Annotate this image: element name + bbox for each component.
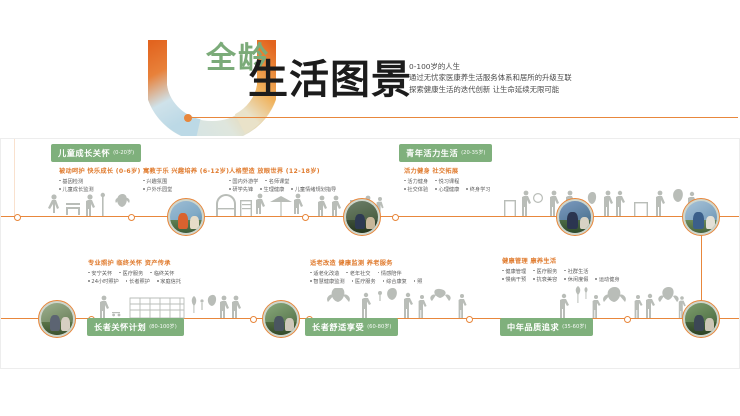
section-divider-top [0, 138, 740, 139]
infographic-canvas: 全龄 生活图景 0-100岁的人生 通过无忧家医康养生活服务体系和居所的升级互联… [0, 0, 740, 416]
timeline-node [392, 214, 399, 221]
group-item: 医疗服务 [352, 278, 376, 285]
group-item: 健康管理 [502, 268, 526, 275]
group-heading: 寓教于乐 兴趣培养 (6-12岁) [143, 166, 229, 175]
photo-youth-sport[interactable] [556, 198, 594, 236]
group-item: 基因检测 [59, 178, 83, 185]
group-item: 兴趣氛围 [143, 178, 167, 185]
group-item: 老年社交 [346, 270, 370, 277]
group-item: 儿童成长监测 [59, 186, 94, 193]
stage-badge-label: 长者舒适享受 [312, 321, 364, 333]
timeline-node [250, 316, 257, 323]
group-heading: 人格塑造 放眼世界 (12-18岁) [229, 166, 336, 175]
stage-badge-age: (60-80岁) [367, 323, 391, 330]
timeline-connector-left [14, 138, 15, 216]
group-item: 情感陪伴 [378, 270, 402, 277]
stage-badge-age: (80-100岁) [149, 323, 177, 330]
stage-badge-youth[interactable]: 青年活力生活 (20-35岁) [399, 144, 492, 162]
subtitle-line-1: 0-100岁的人生 [409, 61, 639, 72]
group-item: 生理健康 [260, 186, 284, 193]
group-item: 综合康复 [383, 278, 407, 285]
subtitle-line-2: 通过无忧家医康养生活服务体系和居所的升级互联 [409, 72, 639, 83]
photo-elder-garden[interactable] [262, 300, 300, 338]
stage-badge-elder-care[interactable]: 长者关怀计划 (80-100岁) [87, 318, 184, 336]
stage-group-youth-0: 活力健身 社交拓展 活力健身 悦习课程 社交体验 心理健康 终身学习 [404, 166, 490, 193]
stage-badge-elder-comfort[interactable]: 长者舒适享受 (60-80岁) [305, 318, 398, 336]
photo-youth-couple[interactable] [682, 198, 720, 236]
stage-badge-label: 儿童成长关怀 [58, 147, 110, 159]
group-item: 照 [414, 278, 423, 285]
group-item: 户外乐园堂 [143, 186, 172, 193]
group-heading: 适老改造 健康监测 养老服务 [310, 258, 422, 267]
group-heading: 活力健身 社交拓展 [404, 166, 490, 175]
group-item: 适老化改造 [310, 270, 339, 277]
silhouette-group-playground [214, 190, 314, 218]
header: 全龄 生活图景 0-100岁的人生 通过无忧家医康养生活服务体系和居所的升级互联… [0, 0, 740, 138]
group-item: 国内外游学 [229, 178, 258, 185]
page-title: 生活图景 [248, 58, 412, 102]
stage-group-elder-comfort-0: 适老改造 健康监测 养老服务 适老化改造 老年社交 情感陪伴 智慧健康监测 医疗… [310, 258, 422, 285]
group-item: 抗衰美容 [533, 276, 557, 283]
group-item: 智慧健康监测 [310, 278, 345, 285]
group-item: 悦习课程 [435, 178, 459, 185]
group-item: 名师课堂 [265, 178, 289, 185]
group-heading: 被动呵护 快乐成长 (0-6岁) [59, 166, 141, 175]
stage-badge-age: (20-35岁) [461, 149, 485, 156]
group-item: 24小时照护 [88, 278, 119, 285]
stage-group-child-2: 人格塑造 放眼世界 (12-18岁) 国内外游学 名师课堂 研学先锋 生理健康 … [229, 166, 336, 193]
stage-group-child-0: 被动呵护 快乐成长 (0-6岁) 基因检测 儿童成长监测 [59, 166, 141, 193]
stage-badge-midlife[interactable]: 中年品质追求 (35-60岁) [500, 318, 593, 336]
stage-badge-label: 中年品质追求 [507, 321, 559, 333]
photo-child-play[interactable] [167, 198, 205, 236]
silhouette-group-children [44, 192, 136, 218]
stage-group-midlife-0: 健康管理 康养生活 健康管理 医疗服务 社群生活 慢病干预 抗衰美容 休闲度假 … [502, 256, 620, 283]
header-rule [190, 117, 738, 118]
stage-badge-label: 青年活力生活 [406, 147, 458, 159]
group-item: 医疗服务 [119, 270, 143, 277]
stage-badge-child[interactable]: 儿童成长关怀 (0-20岁) [51, 144, 141, 162]
photo-midlife-walk[interactable] [682, 300, 720, 338]
photo-teen-study[interactable] [343, 198, 381, 236]
group-item: 运动健身 [595, 276, 619, 283]
stage-badge-age: (0-20岁) [113, 149, 134, 156]
group-item: 长者照护 [126, 278, 150, 285]
stage-group-elder-care-0: 专业照护 临终关怀 资产传承 安宁关怀 医疗服务 临终关怀 24小时照护 长者照… [88, 258, 181, 285]
group-item: 终身学习 [466, 186, 490, 193]
silhouette-group-care-building [96, 292, 246, 320]
group-item: 慢病干预 [502, 276, 526, 283]
group-heading: 专业照护 临终关怀 资产传承 [88, 258, 181, 267]
header-subtitle: 0-100岁的人生 通过无忧家医康养生活服务体系和居所的升级互联 探索健康生活的… [409, 61, 639, 95]
group-item: 研学先锋 [229, 186, 253, 193]
group-heading: 健康管理 康养生活 [502, 256, 620, 265]
group-item: 社交体验 [404, 186, 428, 193]
photo-elder-pair[interactable] [38, 300, 76, 338]
section-divider-bottom [0, 368, 740, 369]
group-item: 安宁关怀 [88, 270, 112, 277]
group-item: 临终关怀 [150, 270, 174, 277]
stage-badge-label: 长者关怀计划 [94, 321, 146, 333]
subtitle-line-3: 探索健康生活的迭代创新 让生命延续无限可能 [409, 84, 639, 95]
stage-badge-age: (35-60岁) [562, 323, 586, 330]
group-item: 休闲度假 [564, 276, 588, 283]
group-item: 心理健康 [435, 186, 459, 193]
group-item: 儿童情绪规划指导 [291, 186, 336, 193]
group-item: 家庭信托 [157, 278, 181, 285]
group-item: 活力健身 [404, 178, 428, 185]
silhouette-group-midlife [556, 284, 686, 320]
silhouette-group-elder-leisure [322, 288, 472, 320]
group-item: 医疗服务 [533, 268, 557, 275]
group-item: 社群生活 [564, 268, 588, 275]
silhouette-group-youth [500, 186, 700, 218]
stage-group-child-1: 寓教于乐 兴趣培养 (6-12岁) 兴趣氛围 户外乐园堂 [143, 166, 229, 193]
frame-edge-left [0, 138, 1, 368]
